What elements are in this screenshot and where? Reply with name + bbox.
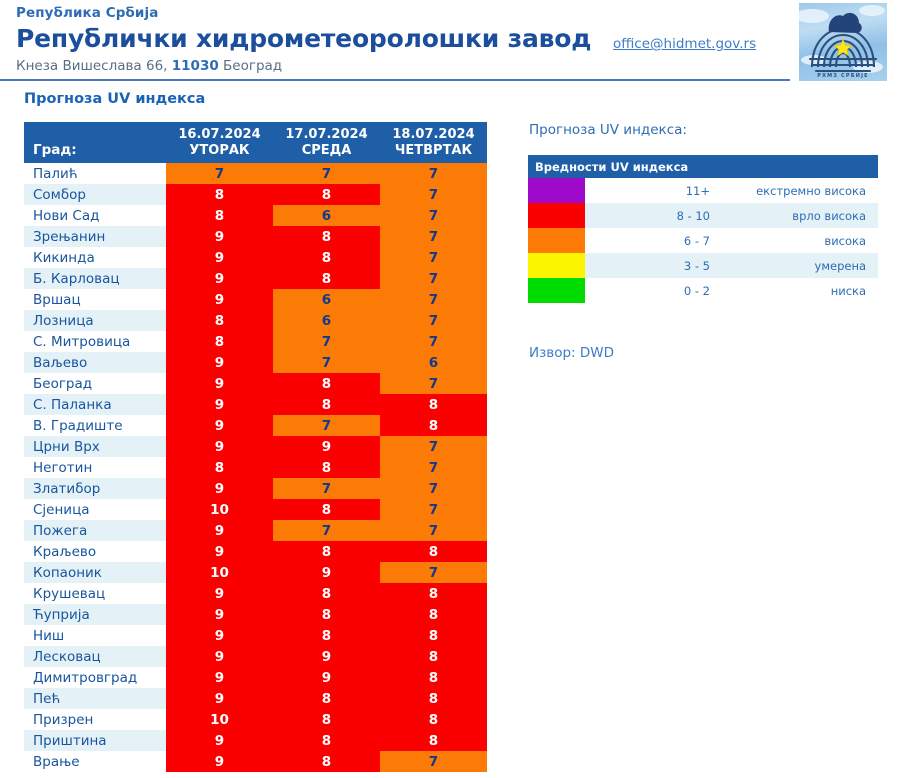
uv-value-cell: 7 xyxy=(380,562,487,583)
uv-value-cell: 7 xyxy=(380,268,487,289)
uv-value-cell: 6 xyxy=(273,310,380,331)
uv-value-cell: 9 xyxy=(166,583,273,604)
uv-value-cell: 9 xyxy=(166,247,273,268)
legend-header-label: Вредности UV индекса xyxy=(528,155,878,178)
uv-value-cell: 8 xyxy=(273,688,380,709)
uv-value-cell: 6 xyxy=(273,289,380,310)
legend-swatch-cell xyxy=(528,253,586,278)
uv-value-cell: 7 xyxy=(273,352,380,373)
uv-value-cell: 10 xyxy=(166,709,273,730)
city-name-cell: Ћуприја xyxy=(24,604,166,625)
uv-value-cell: 8 xyxy=(273,268,380,289)
city-name-cell: Крушевац xyxy=(24,583,166,604)
uv-value-cell: 7 xyxy=(380,226,487,247)
uv-value-cell: 8 xyxy=(273,751,380,772)
uv-value-cell: 9 xyxy=(166,604,273,625)
uv-value-cell: 9 xyxy=(166,394,273,415)
swatch-high xyxy=(528,228,585,253)
table-row: Нови Сад867 xyxy=(24,205,487,226)
uv-value-cell: 9 xyxy=(166,415,273,436)
uv-value-cell: 8 xyxy=(166,184,273,205)
uv-value-cell: 7 xyxy=(380,184,487,205)
legend-row: 8 - 10врло висока xyxy=(528,203,878,228)
swatch-low xyxy=(528,278,585,303)
column-header-day-3: 18.07.2024 ЧЕТВРТАК xyxy=(380,122,487,163)
city-name-cell: Врање xyxy=(24,751,166,772)
table-row: Врање987 xyxy=(24,751,487,772)
table-row: В. Градиште978 xyxy=(24,415,487,436)
uv-value-cell: 8 xyxy=(273,583,380,604)
city-name-cell: Неготин xyxy=(24,457,166,478)
dark-cloud-icon xyxy=(829,13,862,33)
uv-value-cell: 7 xyxy=(273,163,380,184)
uv-value-cell: 10 xyxy=(166,562,273,583)
address-street: Кнеза Вишеслава 66, xyxy=(16,58,172,74)
table-row: Лозница867 xyxy=(24,310,487,331)
uv-value-cell: 8 xyxy=(273,709,380,730)
city-name-cell: Лесковац xyxy=(24,646,166,667)
uv-value-cell: 9 xyxy=(273,646,380,667)
uv-value-cell: 9 xyxy=(166,541,273,562)
uv-value-cell: 7 xyxy=(166,163,273,184)
table-row: Приштина988 xyxy=(24,730,487,751)
city-name-cell: Вршац xyxy=(24,289,166,310)
legend-body: 11+екстремно висока8 - 10врло висока6 - … xyxy=(528,178,878,303)
uv-value-cell: 8 xyxy=(380,730,487,751)
column-header-city: Град: xyxy=(24,122,166,163)
uv-value-cell: 8 xyxy=(273,625,380,646)
logo-emblem-icon xyxy=(799,3,887,81)
city-name-cell: Ваљево xyxy=(24,352,166,373)
uv-value-cell: 7 xyxy=(380,751,487,772)
uv-table-header-row: Град: 16.07.2024 УТОРАК 17.07.2024 СРЕДА… xyxy=(24,122,487,163)
page-title: Прогноза UV индекса xyxy=(24,91,205,107)
city-name-cell: Нови Сад xyxy=(24,205,166,226)
masthead-divider xyxy=(0,79,790,81)
uv-value-cell: 7 xyxy=(273,520,380,541)
uv-value-cell: 7 xyxy=(273,478,380,499)
city-name-cell: Копаоник xyxy=(24,562,166,583)
city-name-cell: Сјеница xyxy=(24,499,166,520)
uv-value-cell: 7 xyxy=(380,289,487,310)
table-row: Палић777 xyxy=(24,163,487,184)
table-row: Пећ988 xyxy=(24,688,487,709)
uv-forecast-table: Град: 16.07.2024 УТОРАК 17.07.2024 СРЕДА… xyxy=(24,122,487,772)
table-row: Неготин887 xyxy=(24,457,487,478)
organization-address: Кнеза Вишеслава 66, 11030 Београд xyxy=(16,57,591,75)
uv-value-cell: 6 xyxy=(273,205,380,226)
legend-description: врло висока xyxy=(724,203,878,228)
city-name-cell: В. Градиште xyxy=(24,415,166,436)
uv-value-cell: 8 xyxy=(166,310,273,331)
legend-title: Прогноза UV индекса: xyxy=(529,122,687,138)
uv-value-cell: 9 xyxy=(273,562,380,583)
city-name-cell: Б. Карловац xyxy=(24,268,166,289)
uv-value-cell: 7 xyxy=(380,436,487,457)
uv-value-cell: 7 xyxy=(380,478,487,499)
uv-table-body: Палић777Сомбор887Нови Сад867Зрењанин987К… xyxy=(24,163,487,772)
uv-value-cell: 8 xyxy=(380,541,487,562)
table-row: Димитровград998 xyxy=(24,667,487,688)
uv-value-cell: 9 xyxy=(166,730,273,751)
day-1-date: 16.07.2024 xyxy=(166,126,273,143)
city-name-cell: Приштина xyxy=(24,730,166,751)
legend-range: 6 - 7 xyxy=(586,228,724,253)
day-3-date: 18.07.2024 xyxy=(380,126,487,143)
uv-value-cell: 7 xyxy=(380,457,487,478)
day-3-weekday: ЧЕТВРТАК xyxy=(380,143,487,159)
uv-value-cell: 7 xyxy=(380,499,487,520)
uv-value-cell: 8 xyxy=(166,205,273,226)
uv-value-cell: 6 xyxy=(380,352,487,373)
uv-value-cell: 7 xyxy=(273,415,380,436)
legend-description: умерена xyxy=(724,253,878,278)
table-row: Лесковац998 xyxy=(24,646,487,667)
uv-value-cell: 7 xyxy=(380,205,487,226)
city-name-cell: Београд xyxy=(24,373,166,394)
uv-value-cell: 7 xyxy=(380,520,487,541)
logo-caption: РХМЗ СРБИЈЕ xyxy=(799,73,887,79)
source-note: Извор: DWD xyxy=(529,345,614,361)
legend-range: 8 - 10 xyxy=(586,203,724,228)
uv-table-head: Град: 16.07.2024 УТОРАК 17.07.2024 СРЕДА… xyxy=(24,122,487,163)
column-header-day-1: 16.07.2024 УТОРАК xyxy=(166,122,273,163)
legend-head: Вредности UV индекса xyxy=(528,155,878,178)
legend-swatch-cell xyxy=(528,203,586,228)
day-1-weekday: УТОРАК xyxy=(166,143,273,159)
city-name-cell: Лозница xyxy=(24,310,166,331)
rhmz-logo: РХМЗ СРБИЈЕ xyxy=(799,3,887,81)
masthead: Република Србија Републички хидрометеоро… xyxy=(0,0,900,86)
legend-swatch-cell xyxy=(528,278,586,303)
table-row: Сјеница1087 xyxy=(24,499,487,520)
uv-value-cell: 8 xyxy=(380,646,487,667)
address-city: Београд xyxy=(219,58,282,74)
table-row: Црни Врх997 xyxy=(24,436,487,457)
column-header-day-2: 17.07.2024 СРЕДА xyxy=(273,122,380,163)
uv-value-cell: 8 xyxy=(380,709,487,730)
city-name-cell: Пећ xyxy=(24,688,166,709)
table-row: Ваљево976 xyxy=(24,352,487,373)
uv-value-cell: 9 xyxy=(166,436,273,457)
uv-value-cell: 7 xyxy=(380,331,487,352)
day-2-date: 17.07.2024 xyxy=(273,126,380,143)
city-name-cell: С. Паланка xyxy=(24,394,166,415)
uv-value-cell: 9 xyxy=(166,226,273,247)
legend-description: висока xyxy=(724,228,878,253)
uv-value-cell: 9 xyxy=(166,352,273,373)
legend-row: 0 - 2ниска xyxy=(528,278,878,303)
legend-description: ниска xyxy=(724,278,878,303)
uv-value-cell: 10 xyxy=(166,499,273,520)
table-row: Зрењанин987 xyxy=(24,226,487,247)
day-2-weekday: СРЕДА xyxy=(273,143,380,159)
uv-value-cell: 7 xyxy=(380,373,487,394)
uv-value-cell: 9 xyxy=(166,688,273,709)
city-name-cell: Краљево xyxy=(24,541,166,562)
uv-value-cell: 8 xyxy=(380,688,487,709)
legend-range: 3 - 5 xyxy=(586,253,724,278)
uv-value-cell: 9 xyxy=(166,478,273,499)
uv-value-cell: 8 xyxy=(166,331,273,352)
organization-name: Републички хидрометеоролошки завод xyxy=(16,23,591,55)
city-name-cell: Димитровград xyxy=(24,667,166,688)
city-name-cell: С. Митровица xyxy=(24,331,166,352)
city-name-cell: Зрењанин xyxy=(24,226,166,247)
uv-value-cell: 8 xyxy=(380,625,487,646)
uv-value-cell: 9 xyxy=(166,646,273,667)
uv-value-cell: 9 xyxy=(166,667,273,688)
masthead-text-block: Република Србија Републички хидрометеоро… xyxy=(16,4,591,75)
table-row: Кикинда987 xyxy=(24,247,487,268)
uv-value-cell: 9 xyxy=(273,436,380,457)
table-row: Вршац967 xyxy=(24,289,487,310)
table-row: Ниш988 xyxy=(24,625,487,646)
uv-value-cell: 7 xyxy=(380,163,487,184)
city-name-cell: Златибор xyxy=(24,478,166,499)
uv-value-cell: 8 xyxy=(273,226,380,247)
city-name-cell: Пожега xyxy=(24,520,166,541)
city-name-cell: Призрен xyxy=(24,709,166,730)
swatch-moderate xyxy=(528,253,585,278)
uv-value-cell: 8 xyxy=(273,499,380,520)
uv-legend-table: Вредности UV индекса 11+екстремно висока… xyxy=(528,155,878,303)
uv-value-cell: 8 xyxy=(380,583,487,604)
city-name-cell: Ниш xyxy=(24,625,166,646)
uv-value-cell: 8 xyxy=(273,394,380,415)
table-row: Крушевац988 xyxy=(24,583,487,604)
uv-value-cell: 8 xyxy=(273,457,380,478)
legend-row: 3 - 5умерена xyxy=(528,253,878,278)
legend-swatch-cell xyxy=(528,178,586,203)
uv-value-cell: 9 xyxy=(166,289,273,310)
uv-value-cell: 8 xyxy=(166,457,273,478)
organization-country: Република Србија xyxy=(16,4,591,22)
uv-value-cell: 9 xyxy=(166,268,273,289)
legend-row: 11+екстремно висока xyxy=(528,178,878,203)
table-row: С. Паланка988 xyxy=(24,394,487,415)
table-row: Златибор977 xyxy=(24,478,487,499)
table-row: Краљево988 xyxy=(24,541,487,562)
city-name-cell: Црни Врх xyxy=(24,436,166,457)
legend-header-row: Вредности UV индекса xyxy=(528,155,878,178)
uv-value-cell: 8 xyxy=(273,604,380,625)
uv-value-cell: 8 xyxy=(380,667,487,688)
uv-value-cell: 7 xyxy=(380,310,487,331)
table-row: Београд987 xyxy=(24,373,487,394)
uv-value-cell: 9 xyxy=(166,625,273,646)
city-name-cell: Палић xyxy=(24,163,166,184)
table-row: Пожега977 xyxy=(24,520,487,541)
table-row: С. Митровица877 xyxy=(24,331,487,352)
swatch-extreme xyxy=(528,178,585,203)
uv-value-cell: 9 xyxy=(166,520,273,541)
uv-value-cell: 8 xyxy=(380,415,487,436)
legend-swatch-cell xyxy=(528,228,586,253)
city-name-cell: Сомбор xyxy=(24,184,166,205)
uv-value-cell: 8 xyxy=(273,247,380,268)
uv-value-cell: 8 xyxy=(273,730,380,751)
uv-value-cell: 8 xyxy=(273,541,380,562)
city-name-cell: Кикинда xyxy=(24,247,166,268)
table-row: Копаоник1097 xyxy=(24,562,487,583)
table-row: Сомбор887 xyxy=(24,184,487,205)
uv-value-cell: 8 xyxy=(380,604,487,625)
uv-value-cell: 7 xyxy=(273,331,380,352)
uv-value-cell: 8 xyxy=(273,373,380,394)
uv-value-cell: 7 xyxy=(380,247,487,268)
uv-value-cell: 9 xyxy=(166,751,273,772)
contact-email-link[interactable]: office@hidmet.gov.rs xyxy=(613,36,756,52)
legend-description: екстремно висока xyxy=(724,178,878,203)
swatch-very-high xyxy=(528,203,585,228)
table-row: Б. Карловац987 xyxy=(24,268,487,289)
uv-value-cell: 9 xyxy=(166,373,273,394)
legend-row: 6 - 7висока xyxy=(528,228,878,253)
legend-range: 0 - 2 xyxy=(586,278,724,303)
legend-range: 11+ xyxy=(586,178,724,203)
uv-value-cell: 9 xyxy=(273,667,380,688)
uv-value-cell: 8 xyxy=(380,394,487,415)
address-zip: 11030 xyxy=(172,58,219,74)
uv-value-cell: 8 xyxy=(273,184,380,205)
table-row: Призрен1088 xyxy=(24,709,487,730)
table-row: Ћуприја988 xyxy=(24,604,487,625)
